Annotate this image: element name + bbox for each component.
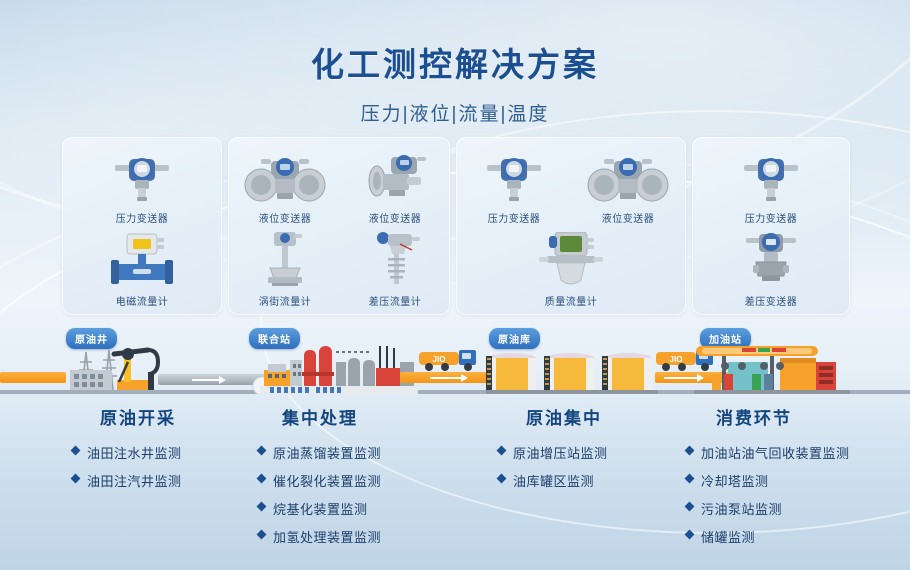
list-item-label: 油田注水井监测 <box>87 443 182 462</box>
product-label: 差压流量计 <box>340 293 450 308</box>
list-item[interactable]: 污油泵站监测 <box>686 499 910 518</box>
product-item[interactable]: 涡街流量计 <box>230 232 340 308</box>
list-item-label: 油库罐区监测 <box>513 471 594 490</box>
list-item[interactable]: 加氢处理装置监测 <box>258 527 500 546</box>
product-item[interactable]: 液位变送器 <box>572 149 684 225</box>
diamond-bullet-icon <box>71 446 81 456</box>
pipe-segment-orange-left <box>0 372 66 383</box>
list-item-label: 冷却塔监测 <box>701 471 769 490</box>
product-card-row: 压力变送器 电磁流量计 <box>62 137 850 315</box>
pressure-transmitter-icon <box>458 149 570 205</box>
product-item[interactable]: 压力变送器 <box>692 149 850 225</box>
flow-arrow-line <box>430 377 462 379</box>
product-label: 液位变送器 <box>340 210 450 225</box>
product-item[interactable]: 液位变送器 <box>340 149 450 225</box>
product-item[interactable]: 压力变送器 <box>62 149 222 225</box>
stage-column-2: 集中处理 原油蒸馏装置监测 催化裂化装置监测 烷基化装置监测 加氢处理装置监测 <box>250 404 500 555</box>
stage-column-4: 消费环节 加油站油气回收装置监测 冷却塔监测 污油泵站监测 储罐监测 <box>672 404 910 555</box>
list-item-label: 油田注汽井监测 <box>87 471 182 490</box>
product-label: 液位变送器 <box>230 210 340 225</box>
diamond-bullet-icon <box>685 530 695 540</box>
stage-bullet-list: 原油蒸馏装置监测 催化裂化装置监测 烷基化装置监测 加氢处理装置监测 <box>250 443 500 546</box>
list-item-label: 烷基化装置监测 <box>273 499 368 518</box>
diamond-bullet-icon <box>685 446 695 456</box>
product-item[interactable]: 电磁流量计 <box>62 232 222 308</box>
page-subtitle: 压力|液位|流量|温度 <box>0 99 910 126</box>
diamond-bullet-icon <box>257 502 267 512</box>
flow-arrow-head <box>461 374 468 382</box>
header: 化工测控解决方案 压力|液位|流量|温度 <box>0 38 910 126</box>
product-item[interactable]: 质量流量计 <box>515 232 627 308</box>
product-label: 压力变送器 <box>62 210 222 225</box>
diamond-bullet-icon <box>71 474 81 484</box>
stage-bullet-list: 加油站油气回收装置监测 冷却塔监测 污油泵站监测 储罐监测 <box>672 443 910 546</box>
flow-arrow-line <box>664 377 698 379</box>
product-card-2[interactable]: 液位变送器 液位变送器 <box>228 137 450 315</box>
diamond-bullet-icon <box>257 530 267 540</box>
list-item[interactable]: 原油蒸馏装置监测 <box>258 443 500 462</box>
flow-arrow-head <box>219 376 226 384</box>
gas-station-scene-icon <box>694 344 850 394</box>
pressure-transmitter-icon <box>692 149 850 205</box>
stage-title: 消费环节 <box>672 404 910 429</box>
product-label: 压力变送器 <box>692 210 850 225</box>
list-item[interactable]: 加油站油气回收装置监测 <box>686 443 910 462</box>
list-item-label: 原油增压站监测 <box>513 443 608 462</box>
differential-pressure-flowmeter-icon <box>340 232 450 288</box>
list-item-label: 催化裂化装置监测 <box>273 471 381 490</box>
product-item[interactable]: 液位变送器 <box>230 149 340 225</box>
product-label: 质量流量计 <box>515 293 627 308</box>
flow-arrow-line <box>192 379 220 381</box>
list-item[interactable]: 催化裂化装置监测 <box>258 471 500 490</box>
svg-text:JIO: JIO <box>670 355 683 364</box>
electromagnetic-flowmeter-icon <box>62 232 222 288</box>
diamond-bullet-icon <box>257 474 267 484</box>
product-card-1[interactable]: 压力变送器 电磁流量计 <box>62 137 222 315</box>
product-card-3[interactable]: 压力变送器 <box>456 137 686 315</box>
level-transmitter-flanged-icon <box>230 149 340 205</box>
stage-title: 集中处理 <box>250 404 500 429</box>
list-item-label: 加油站油气回收装置监测 <box>701 443 850 462</box>
product-label: 涡街流量计 <box>230 293 340 308</box>
tanker-truck-icon: JIO <box>418 348 484 372</box>
product-item[interactable]: 差压变送器 <box>692 232 850 308</box>
refinery-scene-icon <box>240 342 440 394</box>
level-transmitter-single-flange-icon <box>340 149 450 205</box>
pressure-transmitter-icon <box>62 149 222 205</box>
level-transmitter-flanged-icon <box>572 149 684 205</box>
diamond-bullet-icon <box>257 446 267 456</box>
list-item-label: 储罐监测 <box>701 527 755 546</box>
list-item[interactable]: 储罐监测 <box>686 527 910 546</box>
badge-crude-depot[interactable]: 原油库 <box>489 328 540 349</box>
diamond-bullet-icon <box>685 474 695 484</box>
list-item[interactable]: 冷却塔监测 <box>686 471 910 490</box>
product-label: 压力变送器 <box>458 210 570 225</box>
list-item-label: 加氢处理装置监测 <box>273 527 381 546</box>
product-label: 液位变送器 <box>572 210 684 225</box>
vortex-flowmeter-icon <box>230 232 340 288</box>
product-item[interactable]: 压力变送器 <box>458 149 570 225</box>
differential-pressure-transmitter-icon <box>692 232 850 288</box>
list-item-label: 原油蒸馏装置监测 <box>273 443 381 462</box>
diamond-bullet-icon <box>685 502 695 512</box>
diamond-bullet-icon <box>497 474 507 484</box>
oil-well-scene-icon <box>62 346 242 394</box>
product-card-4[interactable]: 压力变送器 差压 <box>692 137 850 315</box>
product-label: 电磁流量计 <box>62 293 222 308</box>
product-label: 差压变送器 <box>692 293 850 308</box>
tank-farm-scene-icon <box>486 350 658 394</box>
solution-poster: 化工测控解决方案 压力|液位|流量|温度 <box>0 0 910 570</box>
list-item[interactable]: 烷基化装置监测 <box>258 499 500 518</box>
diamond-bullet-icon <box>497 446 507 456</box>
page-title: 化工测控解决方案 <box>0 38 910 86</box>
product-item[interactable]: 差压流量计 <box>340 232 450 308</box>
list-item-label: 污油泵站监测 <box>701 499 782 518</box>
svg-text:JIO: JIO <box>433 355 446 364</box>
mass-flowmeter-icon <box>515 232 627 288</box>
